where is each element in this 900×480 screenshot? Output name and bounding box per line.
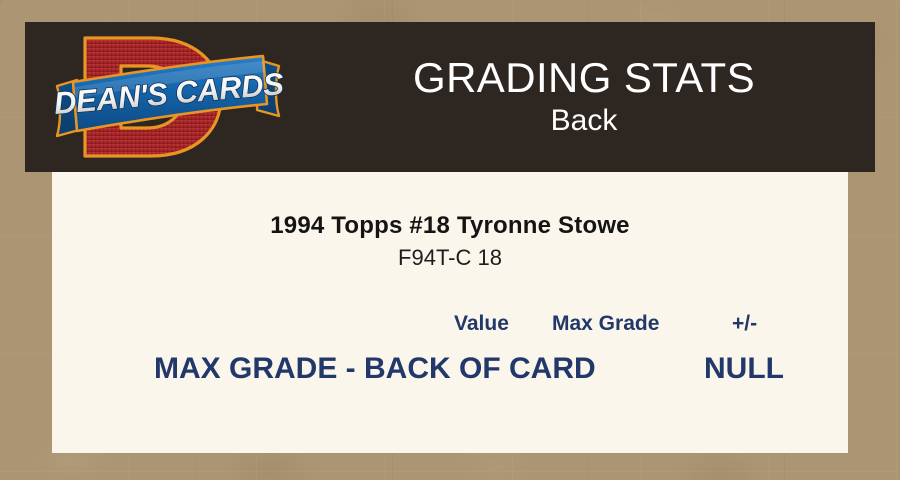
- column-header-value: Value: [454, 312, 509, 336]
- column-header-plus-minus: +/-: [732, 312, 757, 336]
- row-value-max-grade-back-of-card: NULL: [704, 352, 784, 386]
- deans-cards-logo-svg: DEAN'S CARDS: [43, 24, 293, 170]
- header-bar: DEAN'S CARDS GRADING STATS Back: [25, 22, 875, 172]
- page-subtitle: Back: [551, 103, 618, 139]
- grading-stats-table: Value Max Grade +/- MAX GRADE - BACK OF …: [52, 312, 848, 396]
- card-code: F94T-C 18: [52, 245, 848, 271]
- page-title: GRADING STATS: [413, 55, 755, 100]
- table-header-row: Value Max Grade +/-: [52, 312, 848, 346]
- content-panel: 1994 Topps #18 Tyronne Stowe F94T-C 18 V…: [52, 172, 848, 453]
- card-heading: 1994 Topps #18 Tyronne Stowe: [52, 212, 848, 240]
- row-label-max-grade-back-of-card: MAX GRADE - BACK OF CARD: [154, 352, 596, 386]
- deans-cards-logo[interactable]: DEAN'S CARDS: [43, 24, 293, 170]
- column-header-max-grade: Max Grade: [552, 312, 659, 336]
- header-title-group: GRADING STATS Back: [293, 22, 875, 172]
- table-row: MAX GRADE - BACK OF CARD NULL: [52, 352, 848, 396]
